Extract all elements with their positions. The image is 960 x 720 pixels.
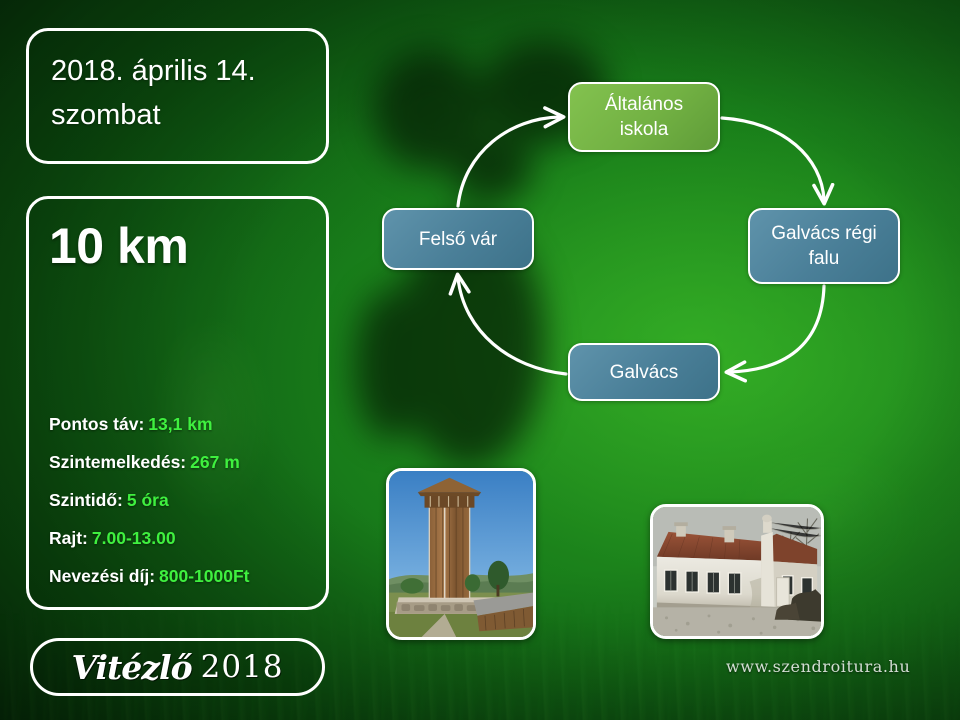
website-url: www.szendroitura.hu	[726, 657, 910, 676]
logo-year: 2018	[201, 649, 284, 685]
photo-lookout-tower	[386, 468, 536, 640]
lookout-tower-image	[389, 471, 533, 637]
detail-label: Pontos táv:	[49, 414, 144, 434]
detail-row-nevezesi-dij: Nevezési díj:800-1000Ft	[49, 566, 306, 587]
detail-value: 5 óra	[127, 490, 169, 510]
logo-wordmark: Vitézlő	[72, 648, 192, 687]
detail-label: Nevezési díj:	[49, 566, 155, 586]
route-info-panel: 10 km Pontos táv:13,1 km Szintemelkedés:…	[26, 196, 329, 610]
distance-headline: 10 km	[49, 217, 306, 275]
cycle-node-felso-var[interactable]: Felső vár	[382, 208, 534, 270]
detail-row-szintemelkedes: Szintemelkedés:267 m	[49, 452, 306, 473]
detail-label: Rajt:	[49, 528, 88, 548]
arrow-galvacs-to-felsovar	[458, 278, 566, 374]
route-detail-list: Pontos táv:13,1 km Szintemelkedés:267 m …	[49, 414, 306, 593]
arrow-felsovar-to-iskola	[458, 117, 560, 206]
cycle-node-galvacs-regi-falu[interactable]: Galvács régi falu	[748, 208, 900, 284]
manor-house-image	[653, 507, 821, 636]
date-line-1: 2018. április 14.	[51, 49, 304, 93]
event-logo: Vitézlő 2018	[30, 638, 325, 696]
arrow-regifalu-to-galvacs	[730, 286, 824, 372]
detail-label: Szintemelkedés:	[49, 452, 186, 472]
slide-canvas: 2018. április 14. szombat 10 km Pontos t…	[0, 0, 960, 720]
photo-manor-house	[650, 504, 824, 639]
date-line-2: szombat	[51, 93, 304, 137]
route-cycle-diagram: Általános iskola Galvács régi falu Galvá…	[360, 60, 940, 430]
detail-value: 13,1 km	[148, 414, 212, 434]
arrow-iskola-to-regifalu	[722, 118, 824, 200]
detail-value: 7.00-13.00	[92, 528, 176, 548]
detail-value: 267 m	[190, 452, 240, 472]
detail-value: 800-1000Ft	[159, 566, 249, 586]
detail-row-pontos-tav: Pontos táv:13,1 km	[49, 414, 306, 435]
detail-row-rajt: Rajt:7.00-13.00	[49, 528, 306, 549]
cycle-node-galvacs[interactable]: Galvács	[568, 343, 720, 401]
detail-row-szintido: Szintidő:5 óra	[49, 490, 306, 511]
cycle-node-altalanos-iskola[interactable]: Általános iskola	[568, 82, 720, 152]
date-panel: 2018. április 14. szombat	[26, 28, 329, 164]
detail-label: Szintidő:	[49, 490, 123, 510]
